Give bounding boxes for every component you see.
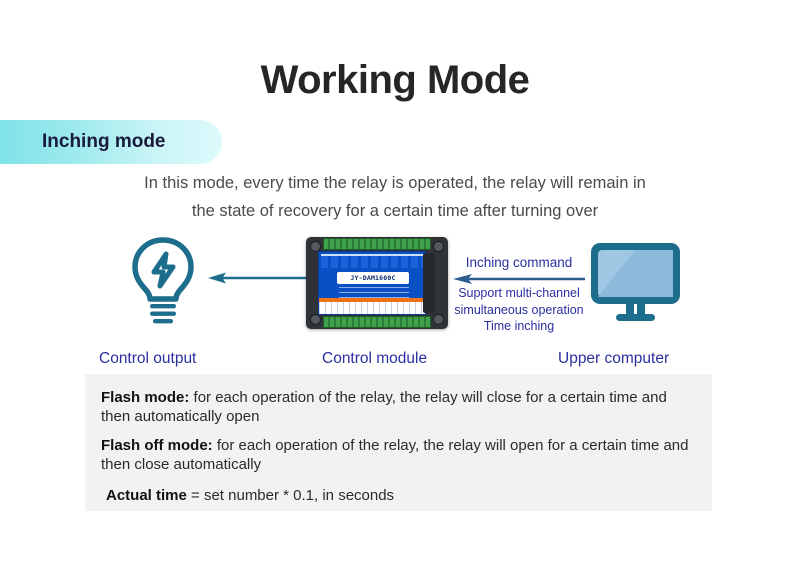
flash-mode-label: Flash mode: [101, 389, 189, 406]
module-bottom-terminals [319, 302, 426, 314]
mode-description: In this mode, every time the relay is op… [95, 169, 695, 225]
actual-time-text: = set number * 0.1, in seconds [187, 487, 394, 504]
inching-command-group: Inching command Support multi-channel si… [449, 254, 589, 335]
flash-off-mode-label: Flash off mode: [101, 437, 213, 454]
module-screw [310, 314, 321, 325]
inching-mode-badge: Inching mode [0, 120, 222, 164]
inching-command-sub-3: Time inching [449, 318, 589, 335]
caption-control-module: Control module [322, 350, 427, 368]
module-screw [433, 241, 444, 252]
mode-description-line-2: the state of recovery for a certain time… [95, 197, 695, 225]
inching-command-sub-1: Support multi-channel [449, 285, 589, 302]
page-title: Working Mode [0, 57, 790, 103]
actual-time-row: Actual time = set number * 0.1, in secon… [101, 486, 696, 505]
inching-command-title: Inching command [449, 254, 589, 272]
lightbulb-icon [127, 234, 199, 326]
monitor-icon [588, 240, 683, 328]
actual-time-label: Actual time [106, 487, 187, 504]
module-side-block [423, 253, 435, 313]
inching-mode-badge-label: Inching mode [42, 131, 166, 153]
module-terminal-strip-bottom [323, 316, 431, 328]
mode-description-line-1: In this mode, every time the relay is op… [95, 169, 695, 197]
module-terminal-strip-top [323, 238, 431, 250]
module-pcb: JY-DAM1600C [318, 251, 426, 315]
inching-command-sub-2: simultaneous operation [449, 302, 589, 319]
module-screw [433, 314, 444, 325]
output-arrow-icon [208, 270, 308, 286]
caption-control-output: Control output [99, 350, 196, 368]
module-model-label: JY-DAM1600C [337, 272, 409, 284]
module-relay-row [321, 254, 425, 268]
control-module-image: JY-DAM1600C [306, 237, 448, 329]
flash-mode-row: Flash mode: for each operation of the re… [101, 388, 696, 426]
caption-upper-computer: Upper computer [558, 350, 669, 368]
flash-off-mode-row: Flash off mode: for each operation of th… [101, 436, 696, 474]
command-arrow-icon [449, 273, 589, 285]
mode-details-box: Flash mode: for each operation of the re… [85, 374, 712, 511]
